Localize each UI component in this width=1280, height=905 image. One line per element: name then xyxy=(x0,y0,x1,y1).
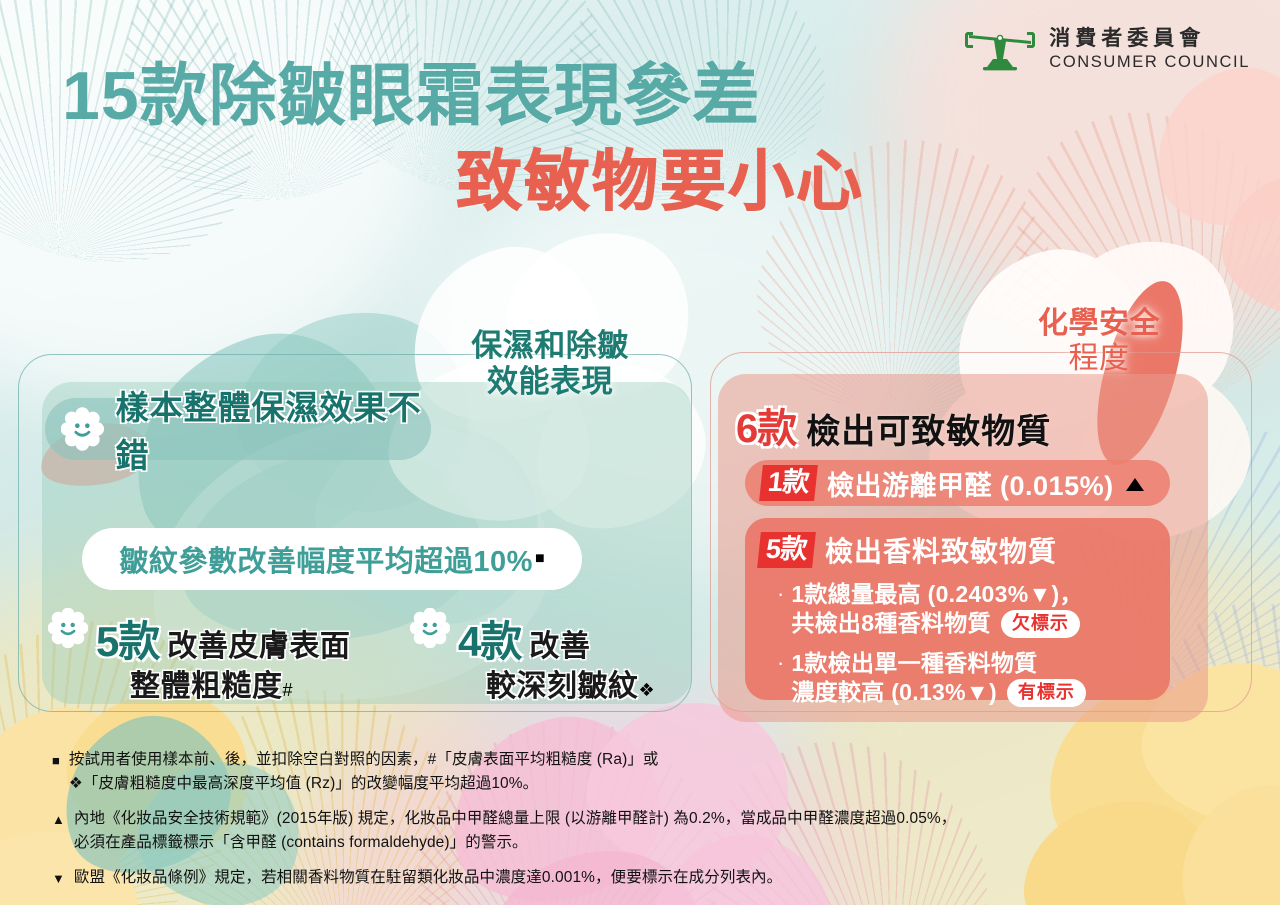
stat-deep-wrinkle-text1: 改善 xyxy=(529,629,590,665)
wrinkle-pill-footnote-mark: ■ xyxy=(535,550,545,568)
bullet-dot-icon: · xyxy=(777,580,784,639)
footnote-2: ▲ 內地《化妝品安全技術規範》(2015年版) 規定，化妝品中甲醛總量上限 (以… xyxy=(52,807,1232,854)
footnote-2-line1: 內地《化妝品安全技術規範》(2015年版) 規定，化妝品中甲醛總量上限 (以游離… xyxy=(74,810,957,827)
fragrance-box-title: 檢出香料致敏物質 xyxy=(825,530,1057,570)
stat-roughness-count: 5款 xyxy=(96,608,159,669)
right-section-heading: 化學安全 程度 xyxy=(1004,306,1194,377)
allergen-headline-text: 檢出可致敏物質 xyxy=(806,404,1051,453)
formaldehyde-count-badge: 1款 xyxy=(759,465,818,501)
wrinkle-improvement-pill: 皺紋參數改善幅度平均超過10%■ xyxy=(82,528,582,590)
bullet-dot-icon: · xyxy=(777,649,784,708)
fragrance-bullet-2-annotation: 有標示 xyxy=(1007,679,1086,707)
logo-name-en: CONSUMER COUNCIL xyxy=(1049,54,1250,71)
stat-deep-wrinkle: 4款 改善 較深刻皺紋❖ xyxy=(410,608,655,705)
fragrance-bullet-1-annotation: 欠標示 xyxy=(1001,610,1080,638)
footnote-3-line1: 歐盟《化妝品條例》規定，若相關香料物質在駐留類化妝品中濃度達0.001%，便要標… xyxy=(74,869,782,886)
moisture-result-chip: 樣本整體保濕效果不錯 xyxy=(45,398,431,460)
right-heading-line2: 程度 xyxy=(1004,341,1194,376)
fragrance-bullet-2: · 1款檢出單一種香料物質 濃度較高 (0.13%▼) 有標示 xyxy=(777,649,1156,708)
footnote-triangle-up-icon xyxy=(1126,478,1144,491)
formaldehyde-bar: 1款 檢出游離甲醛 (0.015%) xyxy=(745,460,1170,506)
allergen-headline: 6款 檢出可致敏物質 xyxy=(736,404,1051,453)
stat-deep-wrinkle-count: 4款 xyxy=(458,608,521,669)
stat-roughness-text1: 改善皮膚表面 xyxy=(167,629,350,665)
flower-smiley-icon xyxy=(48,608,88,648)
footnote-1: ■ 按試用者使用樣本前、後，並扣除空白對照的因素，#「皮膚表面平均粗糙度 (Ra… xyxy=(52,748,1232,795)
footnotes: ■ 按試用者使用樣本前、後，並扣除空白對照的因素，#「皮膚表面平均粗糙度 (Ra… xyxy=(52,748,1232,902)
footnote-3: ▼ 歐盟《化妝品條例》規定，若相關香料物質在駐留類化妝品中濃度達0.001%，便… xyxy=(52,866,1232,890)
footnote-2-glyph: ▲ xyxy=(52,807,65,854)
infographic-page: 消費者委員會 CONSUMER COUNCIL 15款除皺眼霜表現參差 致敏物要… xyxy=(0,0,1280,905)
fragrance-bullet-1-line1: 1款總量最高 (0.2403%▼)， xyxy=(791,581,1082,607)
footnote-1-line2: ❖「皮膚粗糙度中最高深度平均值 (Rz)」的改變幅度平均超過10%。 xyxy=(69,775,538,792)
footnote-3-glyph: ▼ xyxy=(52,866,65,890)
left-section-heading: 保濕和除皺 效能表現 xyxy=(450,328,650,400)
left-heading-line2: 效能表現 xyxy=(450,364,650,400)
fragrance-box-header: 5款 檢出香料致敏物質 xyxy=(759,530,1156,570)
fragrance-bullet-1: · 1款總量最高 (0.2403%▼)， 共檢出8種香料物質 欠標示 xyxy=(777,580,1156,639)
logo-name-cn: 消費者委員會 xyxy=(1049,28,1250,49)
hibiscus-pink-topright xyxy=(1155,60,1280,300)
fan-teal-1 xyxy=(0,0,291,295)
fragrance-bullet-2-line1: 1款檢出單一種香料物質 xyxy=(791,650,1037,676)
stat-roughness: 5款 改善皮膚表面 整體粗糙度# xyxy=(48,608,350,705)
footnote-1-glyph: ■ xyxy=(52,748,60,795)
fragrance-bullet-1-line2: 共檢出8種香料物質 xyxy=(791,609,991,638)
allergen-headline-count: 6款 xyxy=(736,409,796,449)
page-title-line2: 致敏物要小心 xyxy=(456,148,864,214)
wrinkle-pill-label: 皺紋參數改善幅度平均超過10% xyxy=(119,538,533,580)
stat-roughness-footnote-mark: # xyxy=(283,680,293,700)
stat-roughness-text2: 整體粗糙度 xyxy=(130,670,283,703)
flower-smiley-icon xyxy=(410,608,450,648)
fragrance-allergen-box: 5款 檢出香料致敏物質 · 1款總量最高 (0.2403%▼)， 共檢出8種香料… xyxy=(745,518,1170,700)
stat-deep-wrinkle-footnote-mark: ❖ xyxy=(639,680,655,700)
right-heading-line1: 化學安全 xyxy=(1004,306,1194,341)
footnote-2-line2: 必須在產品標籤標示「含甲醛 (contains formaldehyde)」的警… xyxy=(74,834,528,851)
consumer-council-logo: 消費者委員會 CONSUMER COUNCIL xyxy=(963,26,1250,72)
scale-balance-icon xyxy=(963,26,1037,72)
page-title-line1: 15款除皺眼霜表現參差 xyxy=(62,62,761,130)
stat-deep-wrinkle-text2: 較深刻皺紋 xyxy=(486,670,639,703)
footnote-1-line1: 按試用者使用樣本前、後，並扣除空白對照的因素，#「皮膚表面平均粗糙度 (Ra)」… xyxy=(69,751,659,768)
formaldehyde-text: 檢出游離甲醛 (0.015%) xyxy=(827,464,1114,503)
left-heading-line1: 保濕和除皺 xyxy=(450,328,650,364)
moisture-chip-label: 樣本整體保濕效果不錯 xyxy=(116,381,431,477)
fragrance-count-badge: 5款 xyxy=(757,532,816,568)
flower-smiley-icon xyxy=(61,406,104,452)
fragrance-bullet-2-line2: 濃度較高 (0.13%▼) xyxy=(791,678,997,707)
